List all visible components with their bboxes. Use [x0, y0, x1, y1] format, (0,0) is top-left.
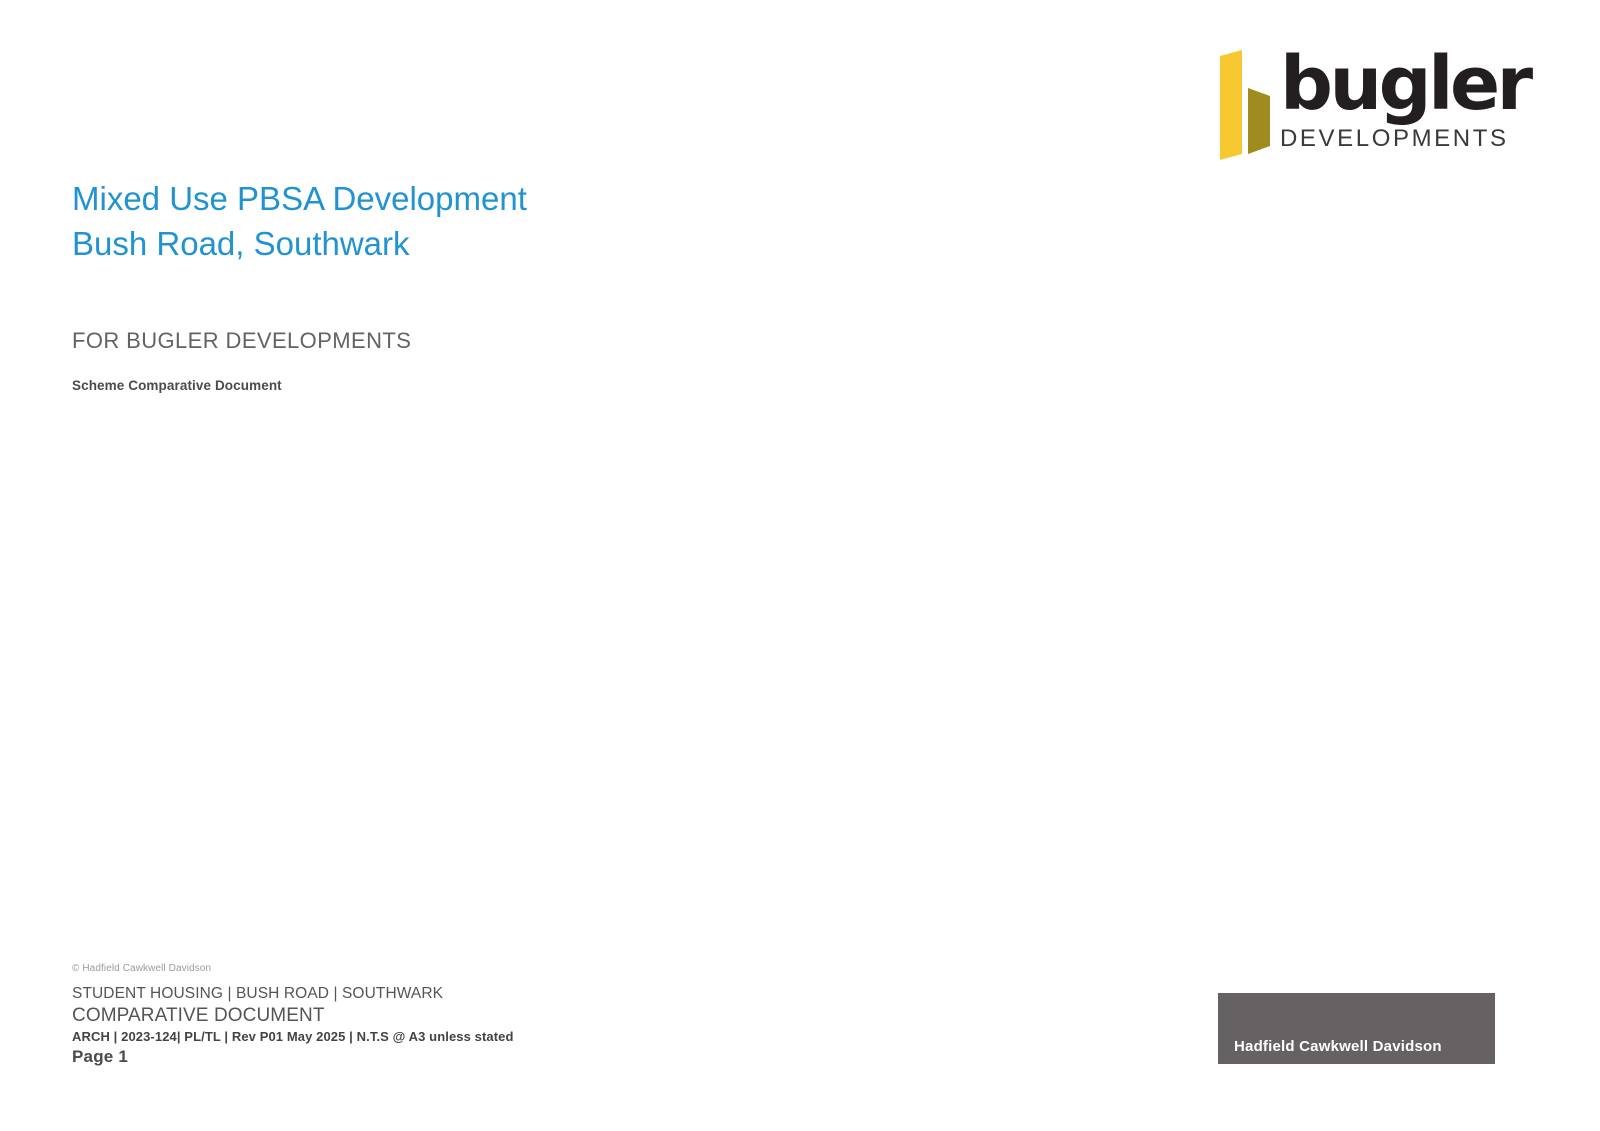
- footer-revision-line: ARCH | 2023-124| PL/TL | Rev P01 May 202…: [72, 1028, 772, 1046]
- brand-subtitle: DEVELOPMENTS: [1280, 126, 1502, 152]
- brand-name: bugler: [1280, 44, 1502, 124]
- bugler-logo-mark-icon: [1212, 50, 1274, 160]
- copyright-notice: © Hadfield Cawkwell Davidson: [72, 963, 211, 974]
- page-number: Page 1: [72, 1047, 128, 1067]
- page-title: Mixed Use PBSA Development Bush Road, So…: [72, 176, 972, 266]
- practice-badge-label: Hadfield Cawkwell Davidson: [1234, 1038, 1442, 1055]
- practice-badge: Hadfield Cawkwell Davidson: [1218, 993, 1495, 1064]
- title-line-1: Mixed Use PBSA Development: [72, 176, 972, 221]
- title-line-2: Bush Road, Southwark: [72, 221, 972, 266]
- footer-project-line: STUDENT HOUSING | BUSH ROAD | SOUTHWARK: [72, 984, 772, 1004]
- footer-document-type: COMPARATIVE DOCUMENT: [72, 1004, 772, 1028]
- document-subtitle: Scheme Comparative Document: [72, 378, 282, 393]
- document-page: bugler DEVELOPMENTS Mixed Use PBSA Devel…: [0, 0, 1600, 1131]
- bugler-logo: bugler DEVELOPMENTS: [1212, 44, 1502, 164]
- bugler-wordmark: bugler DEVELOPMENTS: [1280, 44, 1502, 152]
- footer-identification-block: STUDENT HOUSING | BUSH ROAD | SOUTHWARK …: [72, 984, 772, 1046]
- client-line: FOR BUGLER DEVELOPMENTS: [72, 328, 411, 354]
